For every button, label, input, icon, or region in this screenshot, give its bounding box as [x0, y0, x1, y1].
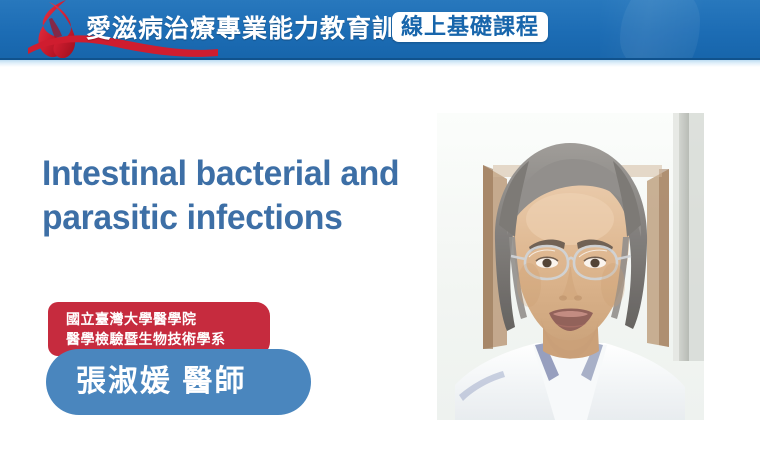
header-title: 愛滋病治療專業能力教育訓練: [86, 13, 424, 45]
header-bar: 愛滋病治療專業能力教育訓練 線上基礎課程: [0, 0, 760, 60]
speaker-video-image: [437, 113, 704, 420]
slide-container: 愛滋病治療專業能力教育訓練 線上基礎課程 Intestinal bacteria…: [0, 0, 760, 470]
speaker-name-pill: 張淑媛 醫師: [46, 349, 311, 415]
page-title-line-1: Intestinal bacterial and: [42, 152, 426, 196]
course-type-badge-label: 線上基礎課程: [401, 15, 539, 39]
page-title: Intestinal bacterial and parasitic infec…: [42, 152, 426, 240]
speaker-affiliation-line-1: 國立臺灣大學醫學院: [66, 309, 270, 329]
aids-red-ribbon-icon: [22, 0, 92, 60]
header-underglow: [0, 60, 760, 67]
speaker-name-label: 張淑媛 醫師: [76, 365, 246, 399]
speaker-affiliation-line-2: 醫學檢驗暨生物技術學系: [66, 329, 270, 349]
speaker-video-feed[interactable]: [437, 113, 704, 420]
speaker-affiliation-box: 國立臺灣大學醫學院 醫學檢驗暨生物技術學系: [48, 302, 270, 356]
course-type-badge: 線上基礎課程: [392, 12, 548, 42]
header-decorative-blob: [620, 0, 700, 60]
page-title-line-2: parasitic infections: [42, 196, 426, 240]
